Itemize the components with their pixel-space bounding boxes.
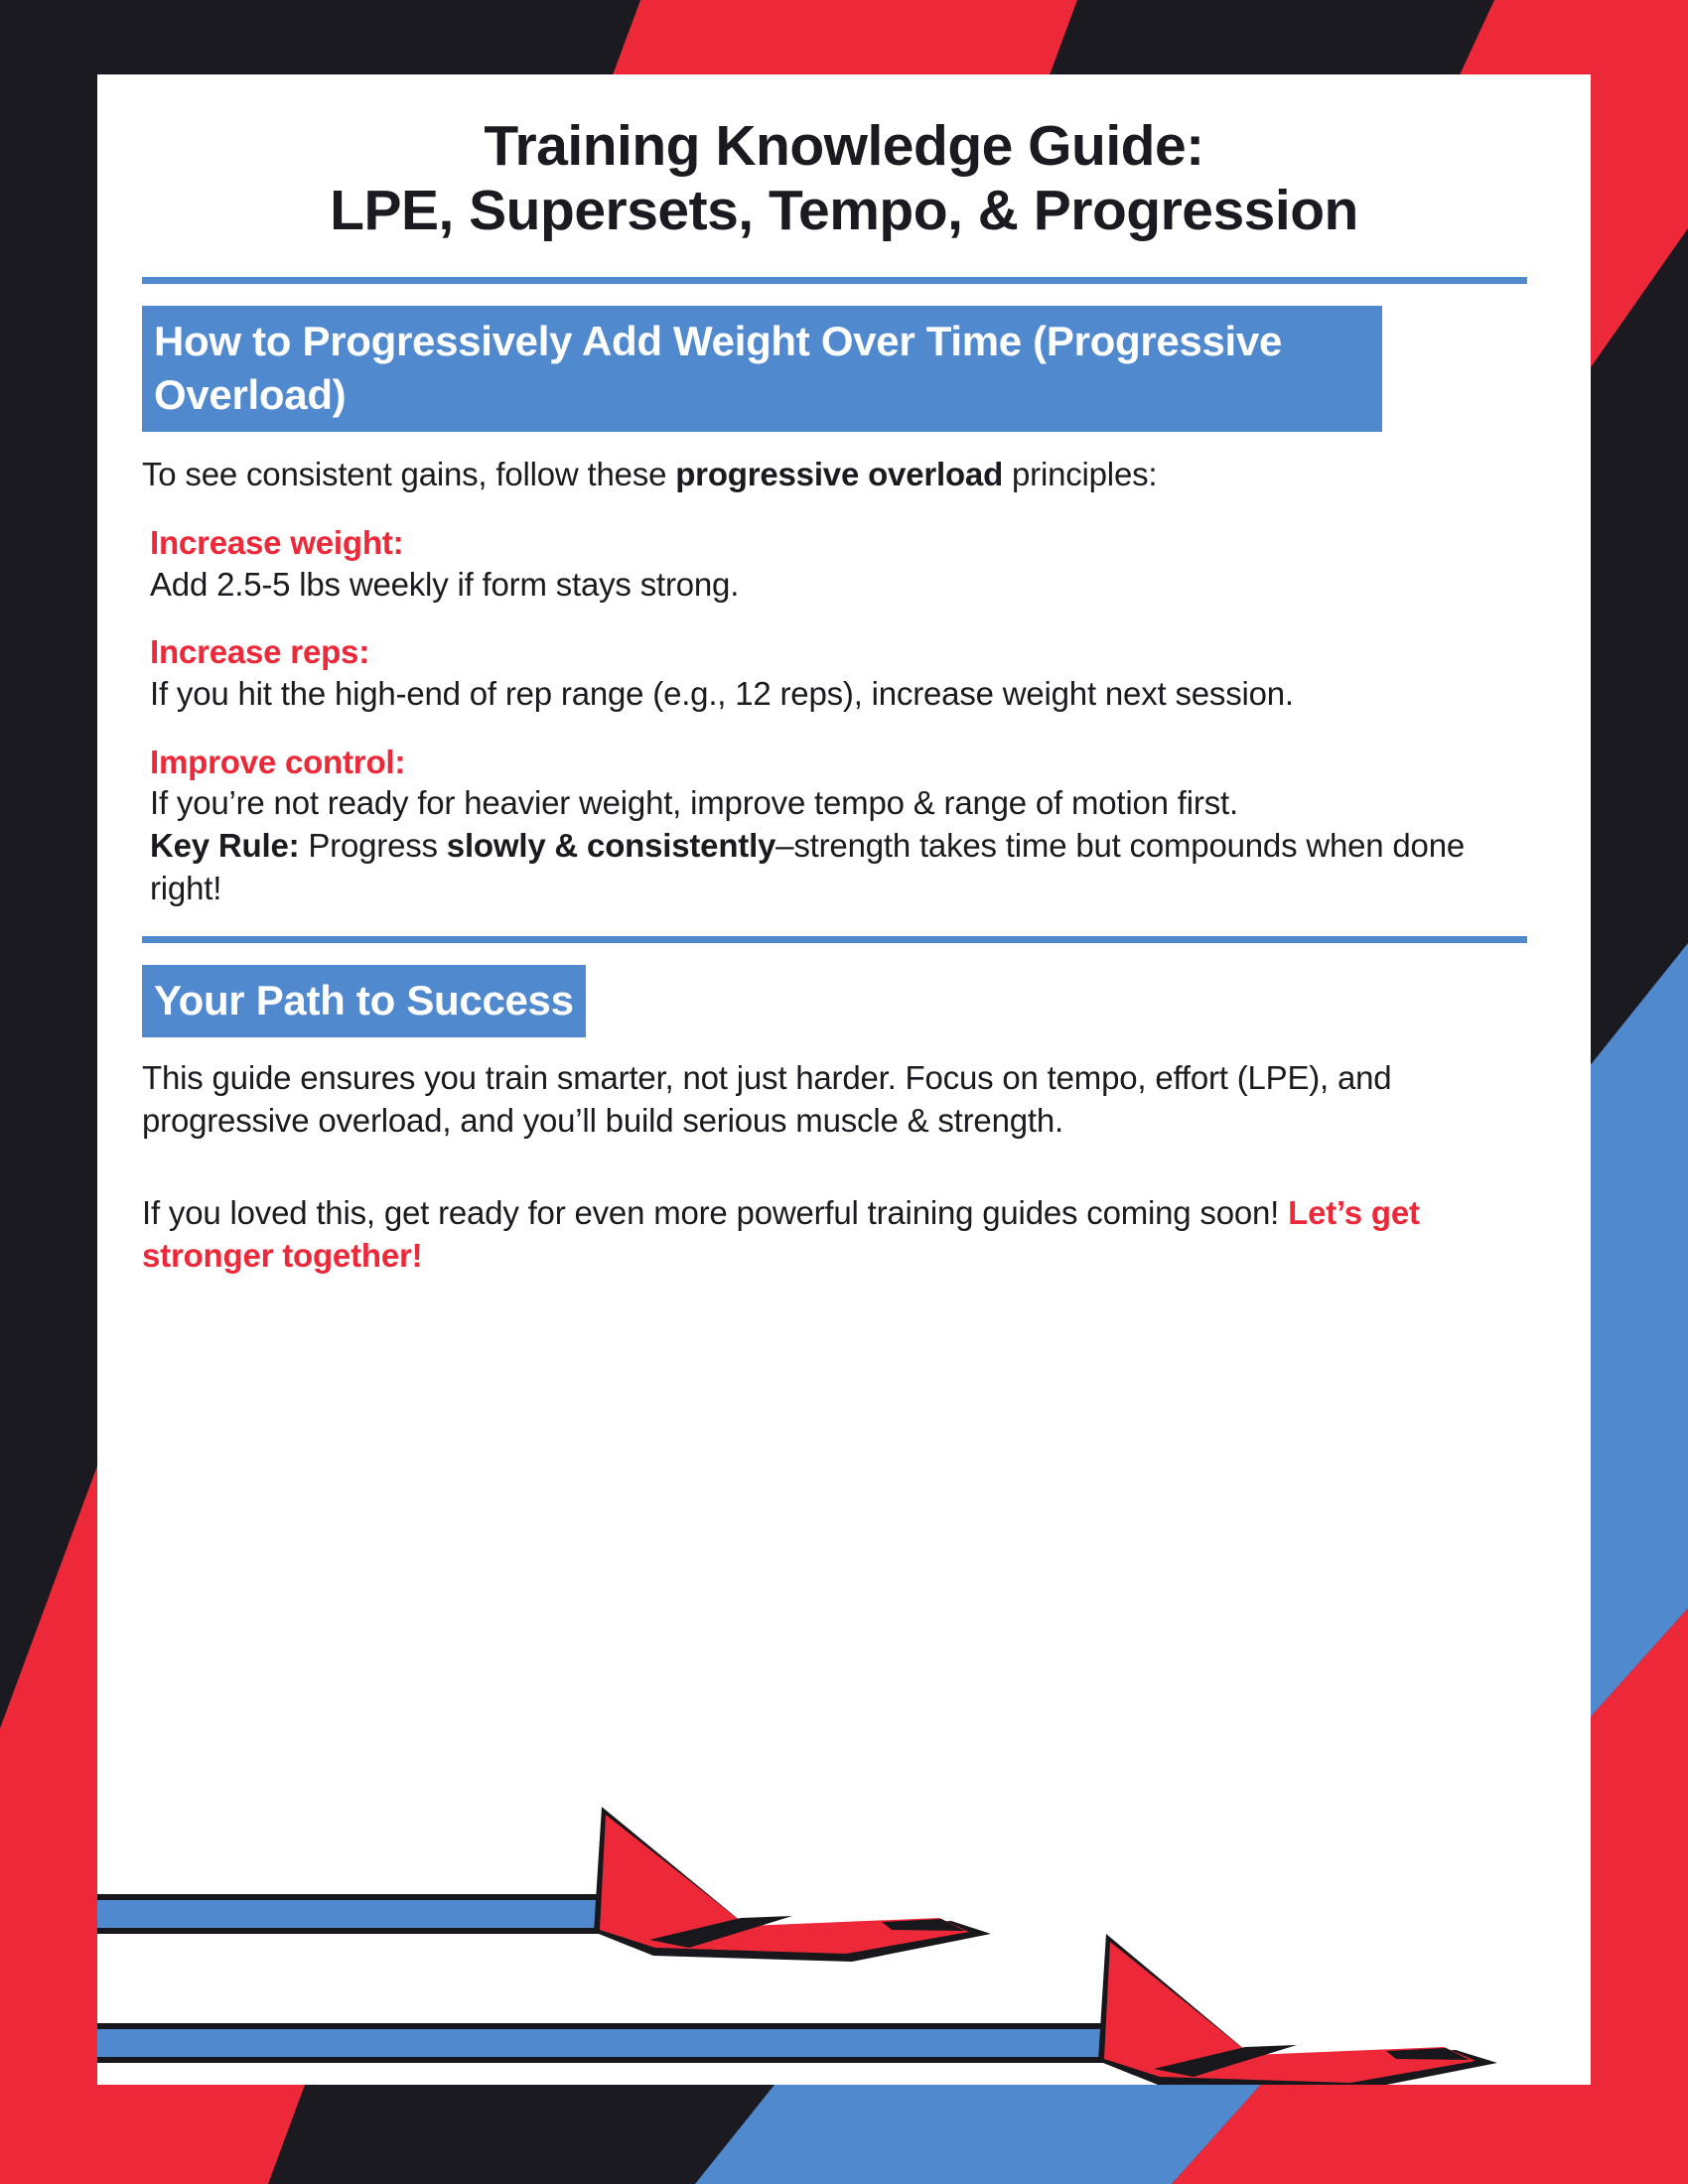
outro-paragraph-1: This guide ensures you train smarter, no… — [142, 1057, 1531, 1143]
outro-text-before: If you loved this, get ready for even mo… — [142, 1194, 1288, 1231]
bullet-text-increase-weight: Add 2.5-5 lbs weekly if form stays stron… — [150, 564, 1531, 607]
bullet-text-improve-control: If you’re not ready for heavier weight, … — [150, 782, 1531, 825]
bullet-increase-reps: Increase reps: If you hit the high-end o… — [142, 631, 1531, 715]
key-rule-label: Key Rule: — [150, 827, 299, 864]
bullet-label-improve-control: Improve control: — [150, 742, 1531, 782]
page-card: Training Knowledge Guide: LPE, Supersets… — [97, 74, 1591, 2085]
intro-paragraph: To see consistent gains, follow these pr… — [142, 454, 1531, 496]
section-body-progressive-overload: To see consistent gains, follow these pr… — [97, 454, 1591, 909]
bullet-label-increase-reps: Increase reps: — [150, 631, 1531, 672]
bullet-text-increase-reps: If you hit the high-end of rep range (e.… — [150, 673, 1531, 716]
key-rule-paragraph: Key Rule: Progress slowly & consistently… — [142, 825, 1531, 910]
bullet-improve-control: Improve control: If you’re not ready for… — [142, 742, 1531, 825]
intro-text-before: To see consistent gains, follow these — [142, 456, 675, 492]
key-rule-mid: Progress — [299, 827, 446, 864]
section-heading-progressive-overload: How to Progressively Add Weight Over Tim… — [142, 306, 1382, 433]
footer-arrow-decoration — [97, 1767, 1591, 2085]
key-rule-bold: slowly & consistently — [447, 827, 775, 864]
page-title-line-2: LPE, Supersets, Tempo, & Progression — [141, 179, 1547, 243]
intro-text-bold: progressive overload — [675, 456, 1003, 492]
bullet-increase-weight: Increase weight: Add 2.5-5 lbs weekly if… — [142, 522, 1531, 606]
intro-text-after: principles: — [1003, 456, 1157, 492]
footer-arrow-1 — [97, 1807, 991, 1962]
divider-middle — [142, 936, 1527, 943]
page-title: Training Knowledge Guide: LPE, Supersets… — [97, 74, 1591, 243]
page-title-line-1: Training Knowledge Guide: — [141, 114, 1547, 179]
section-body-path-to-success: This guide ensures you train smarter, no… — [97, 1057, 1591, 1278]
divider-top — [142, 277, 1527, 284]
outro-paragraph-2: If you loved this, get ready for even mo… — [142, 1192, 1531, 1278]
section-heading-path-to-success: Your Path to Success — [142, 965, 586, 1038]
bullet-label-increase-weight: Increase weight: — [150, 522, 1531, 563]
